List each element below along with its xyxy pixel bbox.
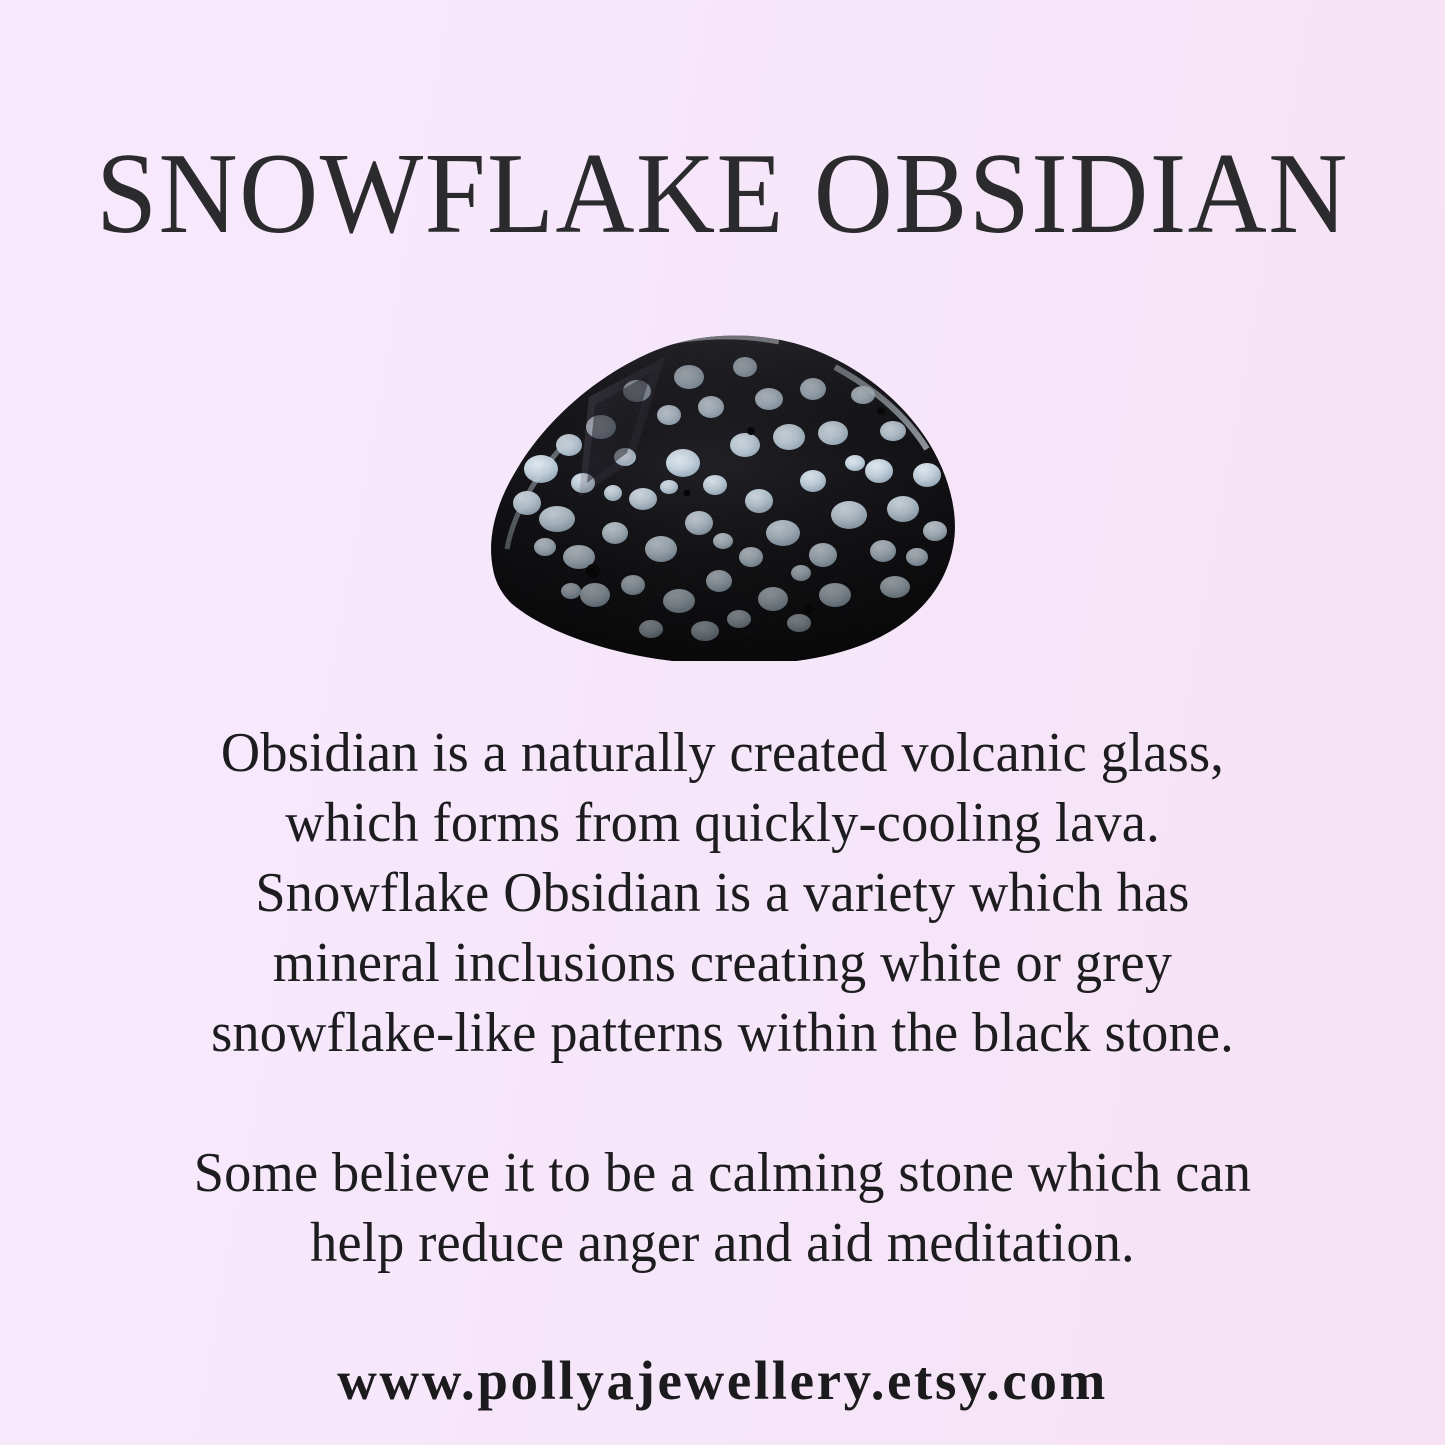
- snowflake-obsidian-stone-image: [483, 333, 957, 661]
- properties-line: Some believe it to be a calming stone wh…: [92, 1138, 1354, 1208]
- description-line: snowflake-like patterns within the black…: [92, 998, 1354, 1068]
- description-text-block: Obsidian is a naturally created volcanic…: [72, 718, 1373, 1278]
- website-url[interactable]: www.pollyajewellery.etsy.com: [0, 1349, 1445, 1412]
- stone-illustration: [483, 333, 957, 661]
- description-line: which forms from quickly-cooling lava.: [92, 788, 1354, 858]
- description-line: Snowflake Obsidian is a variety which ha…: [92, 858, 1354, 928]
- page-title: SNOWFLAKE OBSIDIAN: [40, 136, 1406, 252]
- product-info-card: SNOWFLAKE OBSIDIAN: [0, 0, 1445, 1445]
- paragraph-description: Obsidian is a naturally created volcanic…: [92, 718, 1354, 1068]
- properties-line: help reduce anger and aid meditation.: [92, 1208, 1354, 1278]
- description-line: mineral inclusions creating white or gre…: [92, 928, 1354, 998]
- paragraph-properties: Some believe it to be a calming stone wh…: [92, 1138, 1354, 1278]
- description-line: Obsidian is a naturally created volcanic…: [92, 718, 1354, 788]
